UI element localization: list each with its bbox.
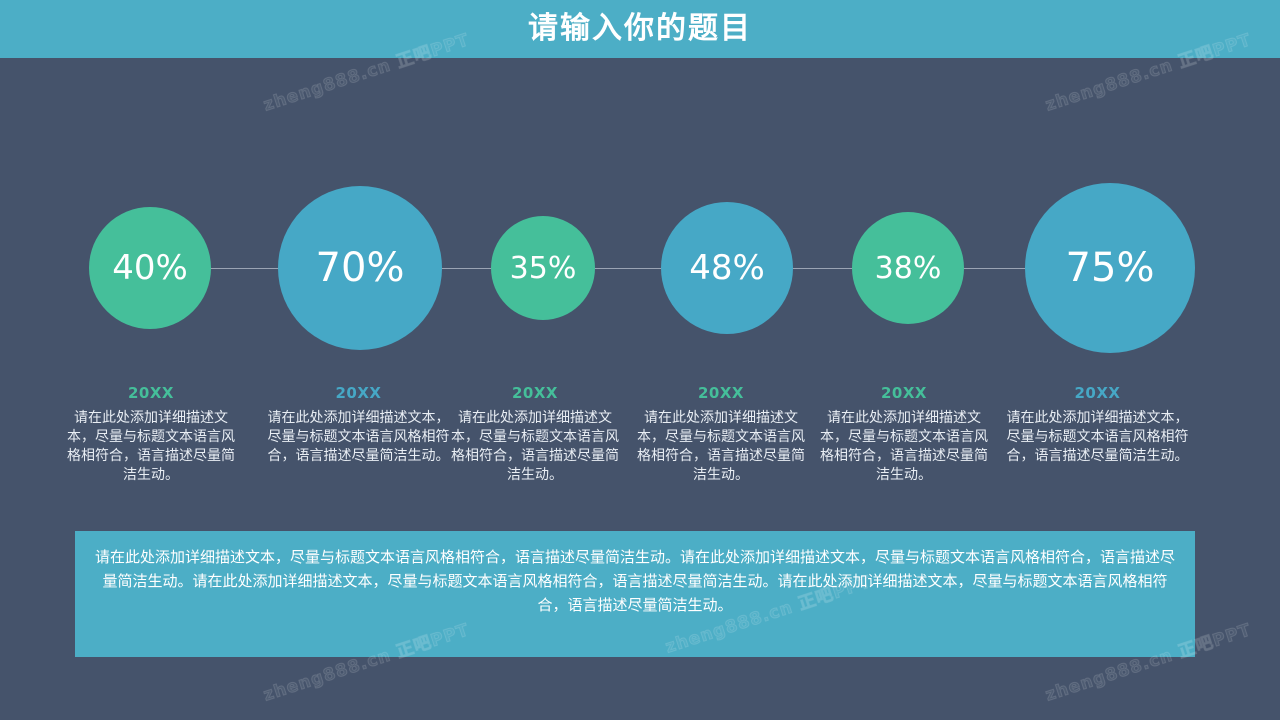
percentage-circle[interactable]: 70% xyxy=(278,186,442,350)
summary-text: 请在此处添加详细描述文本，尽量与标题文本语言风格相符合，语言描述尽量简洁生动。请… xyxy=(93,545,1177,617)
column-year-label: 20XX xyxy=(818,384,990,402)
description-column: 20XX请在此处添加详细描述文本，尽量与标题文本语言风格相符合，语言描述尽量简洁… xyxy=(1005,384,1190,466)
percentage-circle[interactable]: 40% xyxy=(89,207,211,329)
percentage-value-label: 40% xyxy=(112,248,188,288)
column-year-label: 20XX xyxy=(1005,384,1190,402)
description-column: 20XX请在此处添加详细描述文本，尽量与标题文本语言风格相符合，语言描述尽量简洁… xyxy=(635,384,807,485)
column-year-label: 20XX xyxy=(450,384,620,402)
column-description-text: 请在此处添加详细描述文本，尽量与标题文本语言风格相符合，语言描述尽量简洁生动。 xyxy=(818,409,990,485)
percentage-value-label: 38% xyxy=(875,251,942,286)
percentage-circle[interactable]: 75% xyxy=(1025,183,1195,353)
column-description-text: 请在此处添加详细描述文本，尽量与标题文本语言风格相符合，语言描述尽量简洁生动。 xyxy=(450,409,620,485)
column-year-label: 20XX xyxy=(635,384,807,402)
percentage-value-label: 70% xyxy=(316,245,405,291)
description-column: 20XX请在此处添加详细描述文本，尽量与标题文本语言风格相符合，语言描述尽量简洁… xyxy=(266,384,451,466)
description-columns: 20XX请在此处添加详细描述文本，尽量与标题文本语言风格相符合，语言描述尽量简洁… xyxy=(0,384,1280,524)
percentage-value-label: 35% xyxy=(510,251,577,286)
percentage-circle[interactable]: 38% xyxy=(852,212,964,324)
column-description-text: 请在此处添加详细描述文本，尽量与标题文本语言风格相符合，语言描述尽量简洁生动。 xyxy=(635,409,807,485)
percentage-value-label: 48% xyxy=(689,248,765,288)
description-column: 20XX请在此处添加详细描述文本，尽量与标题文本语言风格相符合，语言描述尽量简洁… xyxy=(818,384,990,485)
description-column: 20XX请在此处添加详细描述文本，尽量与标题文本语言风格相符合，语言描述尽量简洁… xyxy=(62,384,240,485)
percentage-value-label: 75% xyxy=(1066,245,1155,291)
percentage-circle[interactable]: 48% xyxy=(661,202,793,334)
column-description-text: 请在此处添加详细描述文本，尽量与标题文本语言风格相符合，语言描述尽量简洁生动。 xyxy=(266,409,451,466)
column-year-label: 20XX xyxy=(62,384,240,402)
column-year-label: 20XX xyxy=(266,384,451,402)
page-title: 请输入你的题目 xyxy=(0,0,1280,58)
column-description-text: 请在此处添加详细描述文本，尽量与标题文本语言风格相符合，语言描述尽量简洁生动。 xyxy=(1005,409,1190,466)
column-description-text: 请在此处添加详细描述文本，尽量与标题文本语言风格相符合，语言描述尽量简洁生动。 xyxy=(62,409,240,485)
summary-box: 请在此处添加详细描述文本，尽量与标题文本语言风格相符合，语言描述尽量简洁生动。请… xyxy=(75,531,1195,657)
percentage-circle[interactable]: 35% xyxy=(491,216,595,320)
description-column: 20XX请在此处添加详细描述文本，尽量与标题文本语言风格相符合，语言描述尽量简洁… xyxy=(450,384,620,485)
percentage-circle-row: 40%70%35%48%38%75% xyxy=(0,150,1280,390)
